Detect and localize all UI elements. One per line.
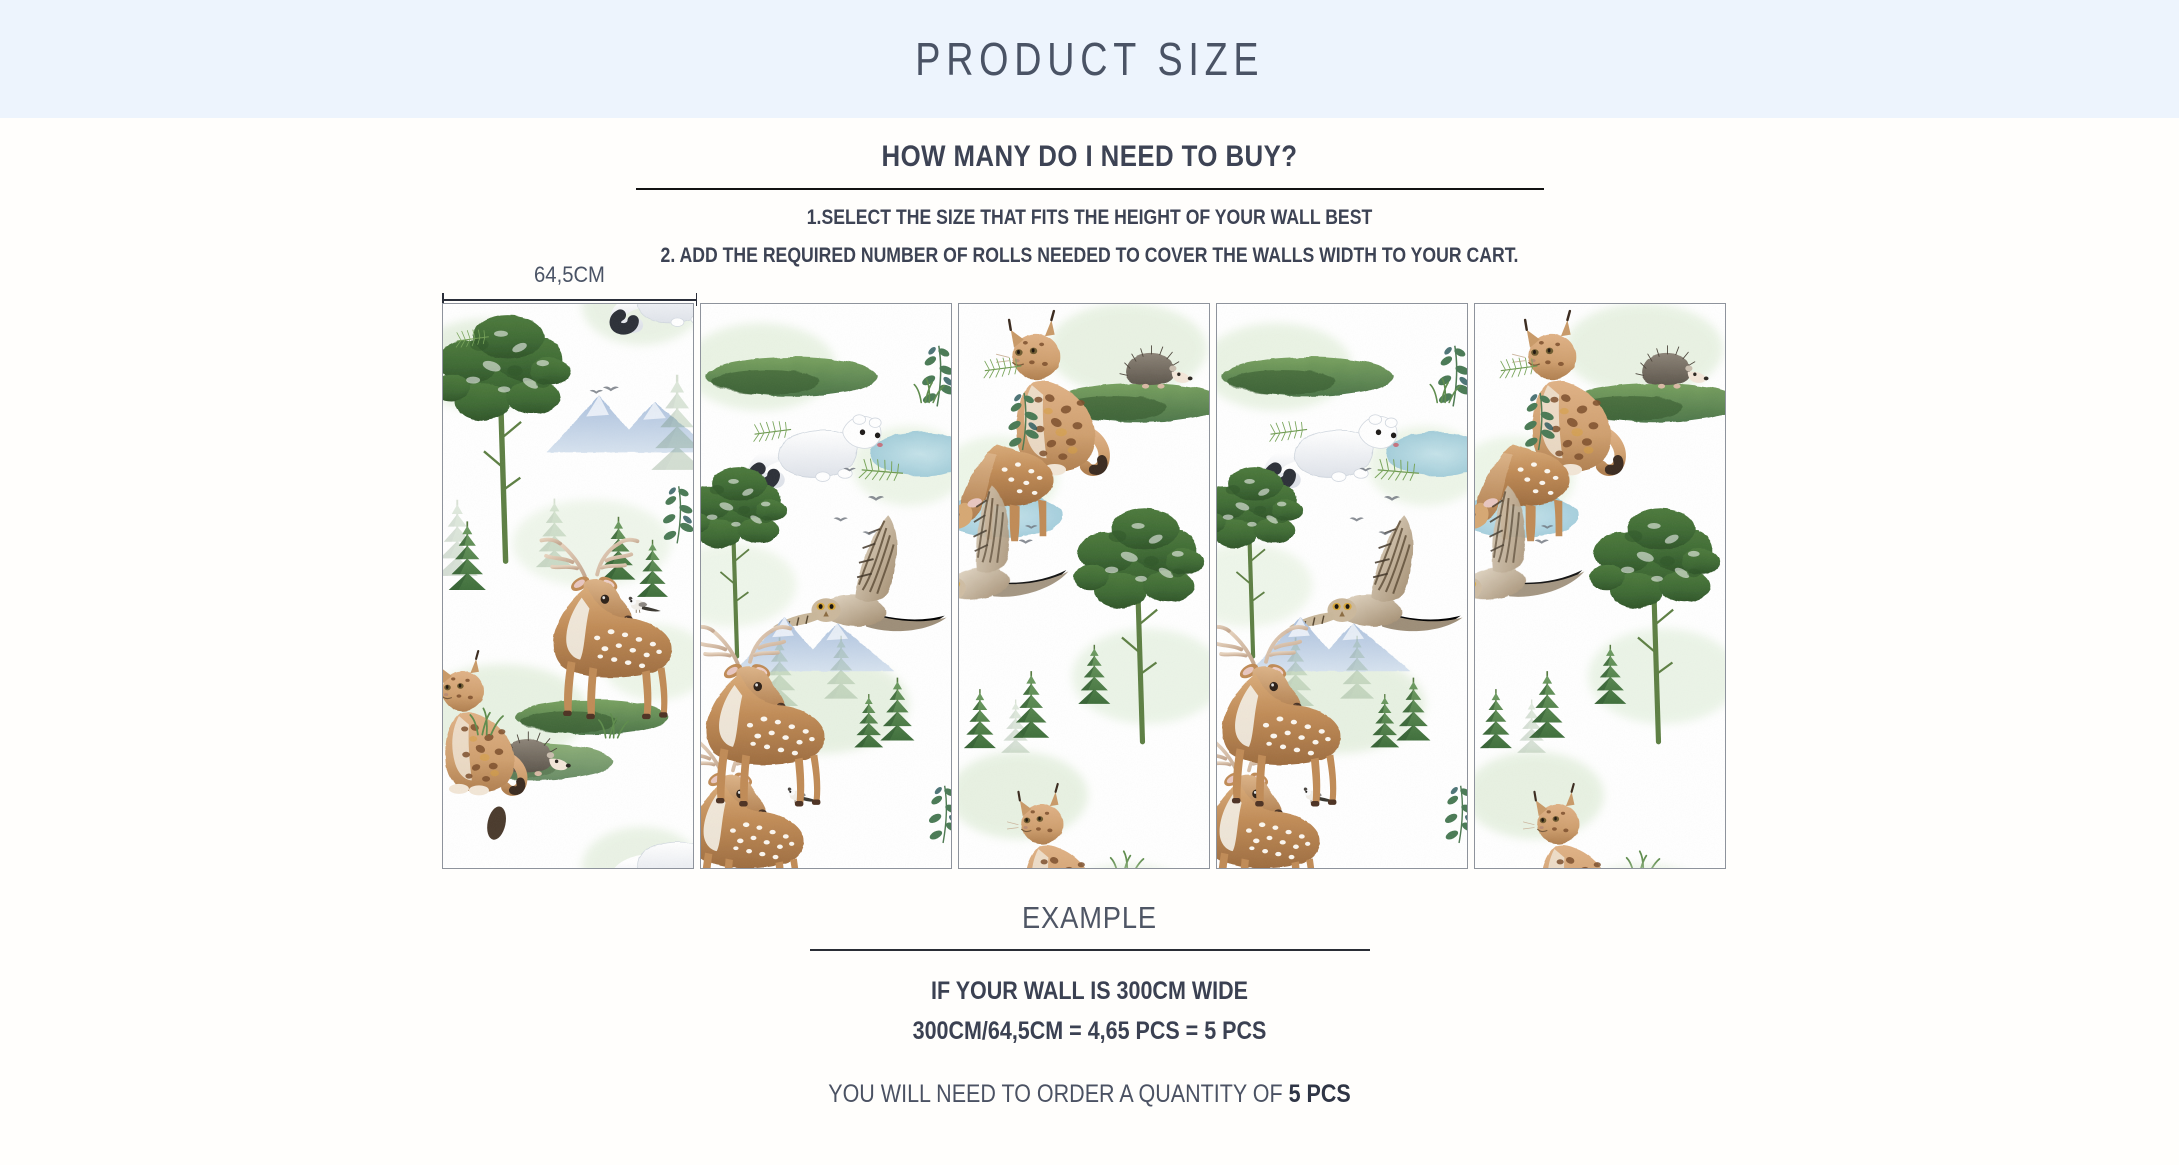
example-footer-prefix: YOU WILL NEED TO ORDER A QUANTITY OF [828,1080,1288,1108]
intro-divider [636,188,1544,190]
example-footer-quantity: 5 PCS [1289,1080,1351,1108]
header-band: PRODUCT SIZE [0,0,2179,118]
example-calculation: 300CM/64,5CM = 4,65 PCS = 5 PCS [153,1017,2027,1046]
wallpaper-panel-row [442,303,1738,869]
page-title: PRODUCT SIZE [915,32,1264,86]
measurement-line [442,299,697,301]
wallpaper-panel[interactable] [1216,303,1468,869]
intro-section: HOW MANY DO I NEED TO BUY? 1.SELECT THE … [0,118,2179,268]
example-wall-width: IF YOUR WALL IS 300CM WIDE [153,977,2027,1006]
example-heading: EXAMPLE [131,900,2049,936]
example-divider [810,949,1370,951]
wallpaper-panel[interactable] [958,303,1210,869]
example-section: EXAMPLE IF YOUR WALL IS 300CM WIDE 300CM… [0,900,2179,1109]
intro-heading: HOW MANY DO I NEED TO BUY? [153,140,2027,174]
intro-step-1: 1.SELECT THE SIZE THAT FITS THE HEIGHT O… [174,206,2004,230]
measurement-indicator: 64,5CM [442,262,697,305]
wallpaper-panel[interactable] [700,303,952,869]
wallpaper-panel[interactable] [442,303,694,869]
measurement-label: 64,5CM [452,262,687,288]
example-footer: YOU WILL NEED TO ORDER A QUANTITY OF 5 P… [153,1080,2027,1109]
wallpaper-panel[interactable] [1474,303,1726,869]
